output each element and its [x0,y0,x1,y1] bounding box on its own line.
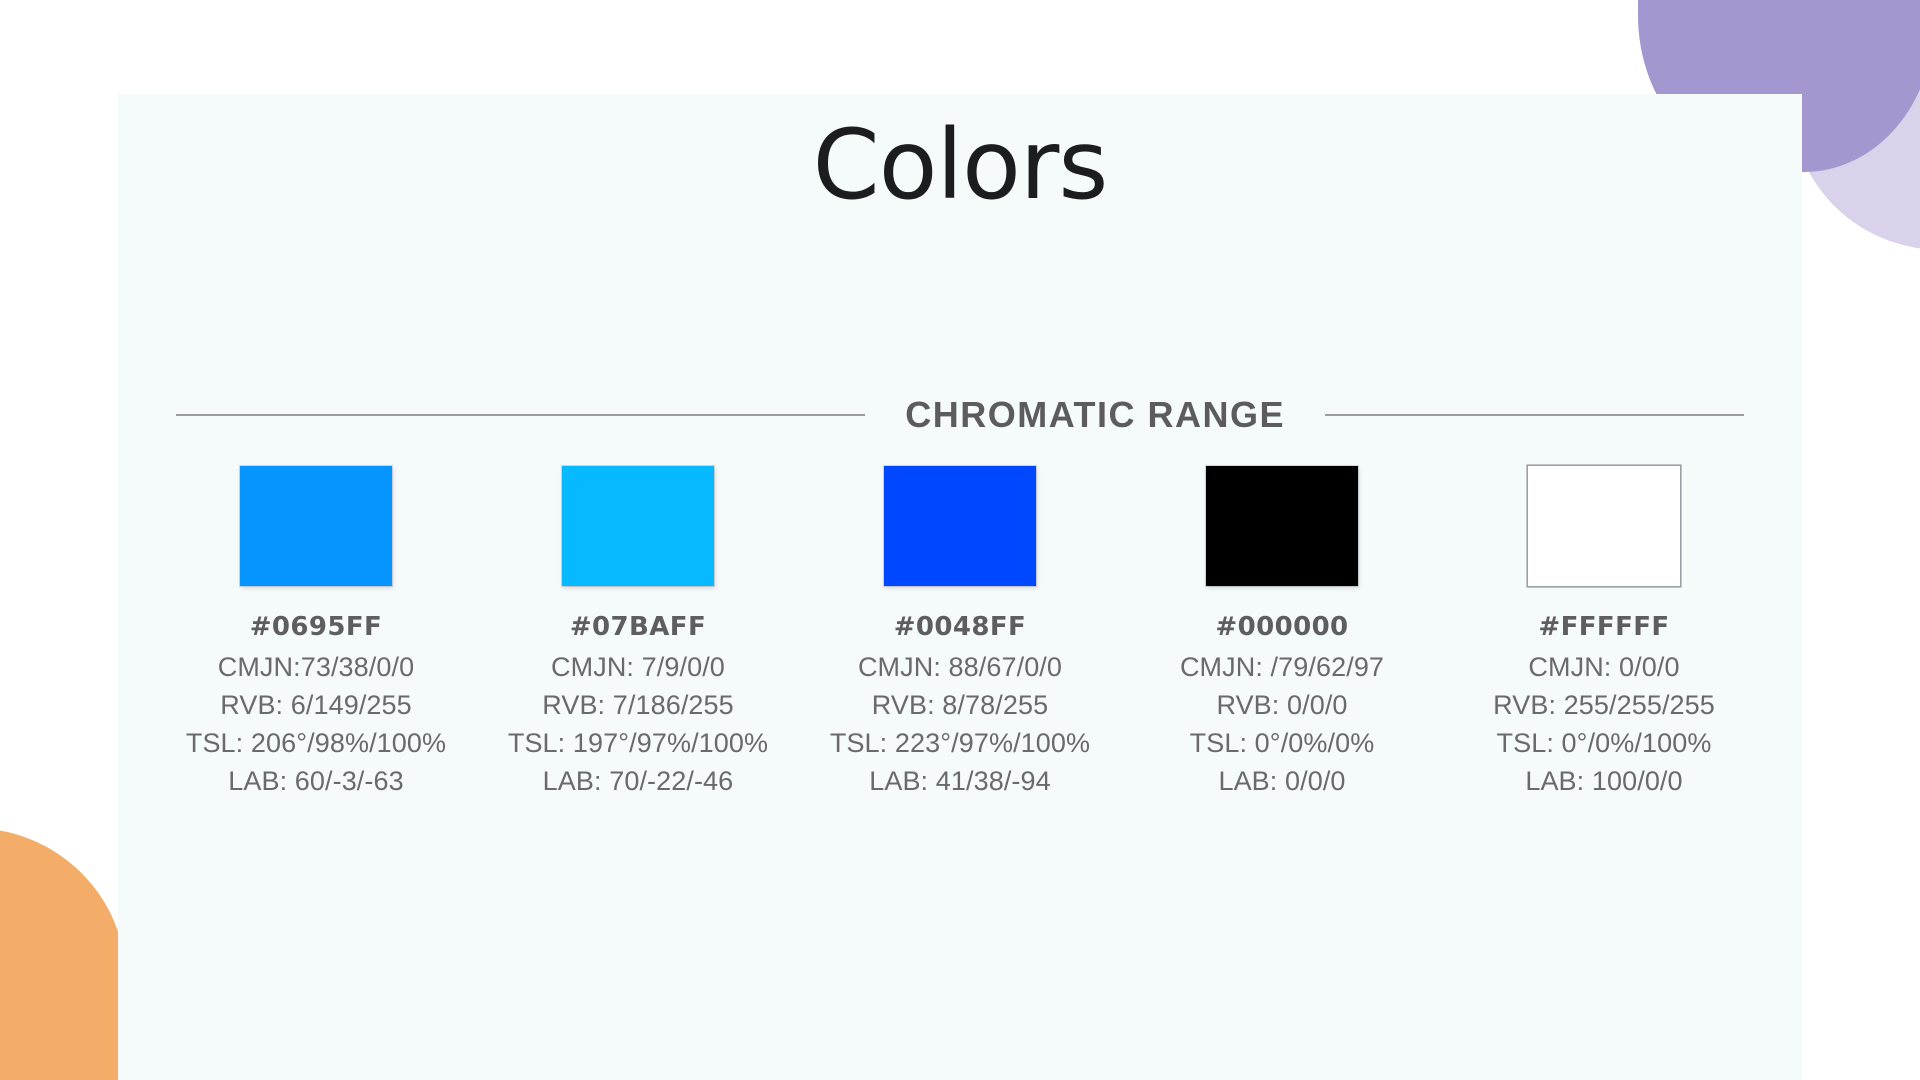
section-heading: CHROMATIC RANGE [891,394,1299,436]
page-title: Colors [118,110,1802,220]
spec-cmjn: CMJN: 0/0/0 [1528,652,1679,683]
color-hex-label: #0695FF [250,612,382,642]
color-spec-list: CMJN: 0/0/0 RVB: 255/255/255 TSL: 0°/0%/… [1493,652,1715,797]
spec-tsl: TSL: 206°/98%/100% [186,728,446,759]
slide-card: Colors CHROMATIC RANGE #0695FF CMJN:73/3… [118,94,1802,1080]
color-swatch-item[interactable]: #0695FF CMJN:73/38/0/0 RVB: 6/149/255 TS… [168,466,464,797]
spec-cmjn: CMJN: 88/67/0/0 [858,652,1062,683]
color-hex-label: #0048FF [894,612,1026,642]
color-swatch-item[interactable]: #0048FF CMJN: 88/67/0/0 RVB: 8/78/255 TS… [812,466,1108,797]
color-spec-list: CMJN:73/38/0/0 RVB: 6/149/255 TSL: 206°/… [186,652,446,797]
divider-rule-left [176,414,865,416]
color-chip[interactable] [1206,466,1358,586]
color-swatch-grid: #0695FF CMJN:73/38/0/0 RVB: 6/149/255 TS… [168,466,1752,797]
spec-tsl: TSL: 197°/97%/100% [508,728,768,759]
color-chip[interactable] [240,466,392,586]
spec-lab: LAB: 0/0/0 [1218,766,1345,797]
spec-lab: LAB: 41/38/-94 [869,766,1051,797]
spec-tsl: TSL: 223°/97%/100% [830,728,1090,759]
color-hex-label: #07BAFF [570,612,706,642]
color-swatch-item[interactable]: #FFFFFF CMJN: 0/0/0 RVB: 255/255/255 TSL… [1456,466,1752,797]
spec-cmjn: CMJN:73/38/0/0 [218,652,415,683]
color-chip[interactable] [884,466,1036,586]
spec-cmjn: CMJN: /79/62/97 [1180,652,1384,683]
section-divider: CHROMATIC RANGE [176,394,1744,436]
spec-cmjn: CMJN: 7/9/0/0 [551,652,725,683]
color-spec-list: CMJN: 7/9/0/0 RVB: 7/186/255 TSL: 197°/9… [508,652,768,797]
color-swatch-item[interactable]: #000000 CMJN: /79/62/97 RVB: 0/0/0 TSL: … [1134,466,1430,797]
spec-rvb: RVB: 255/255/255 [1493,690,1715,721]
spec-lab: LAB: 100/0/0 [1525,766,1682,797]
orange-blob-shape [0,828,126,1080]
color-chip[interactable] [1528,466,1680,586]
color-spec-list: CMJN: /79/62/97 RVB: 0/0/0 TSL: 0°/0%/0%… [1180,652,1384,797]
color-spec-list: CMJN: 88/67/0/0 RVB: 8/78/255 TSL: 223°/… [830,652,1090,797]
spec-rvb: RVB: 6/149/255 [220,690,412,721]
spec-lab: LAB: 70/-22/-46 [543,766,734,797]
spec-rvb: RVB: 8/78/255 [872,690,1048,721]
color-chip[interactable] [562,466,714,586]
spec-rvb: RVB: 0/0/0 [1216,690,1347,721]
spec-tsl: TSL: 0°/0%/100% [1497,728,1712,759]
divider-rule-right [1325,414,1744,416]
spec-lab: LAB: 60/-3/-63 [228,766,404,797]
spec-rvb: RVB: 7/186/255 [542,690,734,721]
purple-light-blob-shape [1792,0,1920,250]
spec-tsl: TSL: 0°/0%/0% [1190,728,1375,759]
color-swatch-item[interactable]: #07BAFF CMJN: 7/9/0/0 RVB: 7/186/255 TSL… [490,466,786,797]
color-hex-label: #FFFFFF [1538,612,1669,642]
color-hex-label: #000000 [1215,612,1348,642]
